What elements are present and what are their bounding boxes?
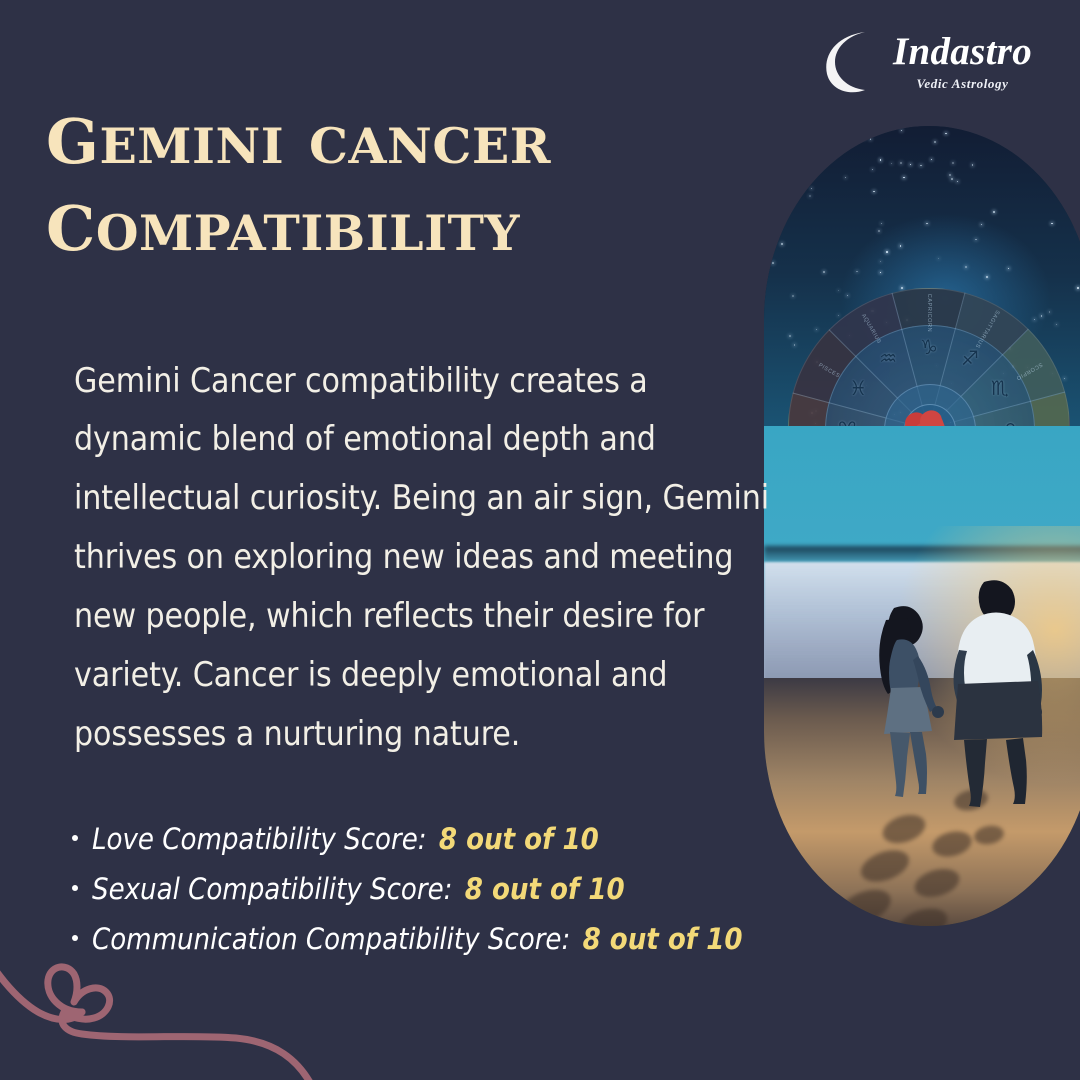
star — [986, 276, 988, 278]
score-label: Sexual Compatibility Score: — [92, 872, 452, 906]
star — [931, 159, 932, 160]
star — [797, 163, 799, 165]
star — [903, 177, 905, 179]
star — [880, 261, 881, 262]
star — [847, 295, 848, 296]
star — [881, 223, 882, 224]
star — [926, 223, 928, 225]
page-title: Gemini Cancer Compatibility — [46, 89, 746, 264]
title-line-2: Compatibility — [46, 176, 746, 263]
star — [856, 271, 858, 273]
star — [901, 287, 903, 289]
intro-paragraph: Gemini Cancer compatibility creates a dy… — [74, 352, 774, 765]
star — [809, 195, 811, 197]
star — [1051, 223, 1053, 225]
zodiac-name-capricorn: CAPRICORN — [926, 294, 932, 332]
zodiac-couple-image-panel: ♑♐♏♎♍♌♋♊♉♈♓♒ CAPRICORNSAGITTARIUSSCORPIO… — [764, 126, 1080, 926]
star — [891, 163, 893, 165]
star — [981, 224, 982, 225]
star — [1077, 227, 1078, 228]
star — [767, 134, 769, 136]
star — [845, 177, 846, 178]
star — [873, 191, 875, 193]
star — [794, 344, 795, 345]
star — [1055, 161, 1056, 162]
star — [965, 266, 967, 268]
heart-line-swirl-icon — [0, 936, 316, 1080]
star — [920, 165, 921, 166]
star — [816, 329, 817, 330]
compatibility-poster: ♑♐♏♎♍♌♋♊♉♈♓♒ CAPRICORNSAGITTARIUSSCORPIO… — [0, 0, 1080, 1080]
star — [886, 251, 888, 253]
indastro-logo[interactable]: Indastro Vedic Astrology — [821, 26, 1032, 98]
star — [880, 272, 881, 273]
star — [975, 239, 977, 241]
star — [1034, 319, 1035, 320]
score-value: 8 out of 10 — [465, 872, 625, 906]
star — [1049, 311, 1050, 312]
star — [910, 164, 912, 166]
crescent-moon-icon — [821, 30, 883, 94]
star — [789, 335, 791, 337]
star — [972, 164, 973, 165]
star — [878, 230, 880, 232]
star — [934, 141, 936, 143]
score-value: 8 out of 10 — [583, 922, 743, 956]
zodiac-symbol-scorpio: ♏ — [991, 378, 1009, 398]
star — [901, 130, 902, 131]
star — [900, 162, 902, 164]
star — [957, 181, 958, 182]
brand-name: Indastro — [893, 32, 1032, 71]
star — [811, 188, 812, 189]
star — [1056, 324, 1057, 325]
star — [1075, 164, 1077, 166]
star — [773, 151, 774, 152]
star — [1064, 378, 1065, 379]
score-value: 8 out of 10 — [439, 822, 599, 856]
star — [872, 169, 873, 170]
brand-tagline: Vedic Astrology — [917, 76, 1009, 92]
star — [864, 138, 865, 139]
star — [838, 290, 839, 291]
star — [858, 126, 859, 127]
star — [772, 262, 774, 264]
zodiac-symbol-capricorn: ♑ — [920, 337, 938, 357]
zodiac-symbol-pisces: ♓ — [849, 378, 867, 398]
star — [993, 211, 995, 213]
star — [792, 295, 794, 297]
star — [900, 245, 902, 247]
star — [1008, 268, 1009, 269]
star — [838, 315, 839, 316]
man-silhouette — [940, 576, 1070, 816]
star — [952, 162, 954, 164]
star — [938, 258, 939, 259]
score-label: Love Compatibility Score: — [92, 822, 427, 856]
star — [781, 243, 782, 244]
star — [1077, 287, 1079, 289]
star — [945, 133, 946, 134]
star — [776, 160, 777, 161]
title-line-1: Gemini Cancer — [46, 89, 746, 176]
star — [951, 178, 953, 180]
star — [880, 159, 881, 160]
score-item: Love Compatibility Score: 8 out of 10 — [66, 822, 806, 856]
zodiac-symbol-aquarius: ♒ — [879, 348, 897, 368]
star — [870, 138, 872, 140]
zodiac-symbol-sagittarius: ♐ — [961, 348, 979, 368]
star — [1041, 315, 1042, 316]
star — [949, 174, 950, 175]
star — [823, 271, 825, 273]
score-item: Sexual Compatibility Score: 8 out of 10 — [66, 872, 806, 906]
